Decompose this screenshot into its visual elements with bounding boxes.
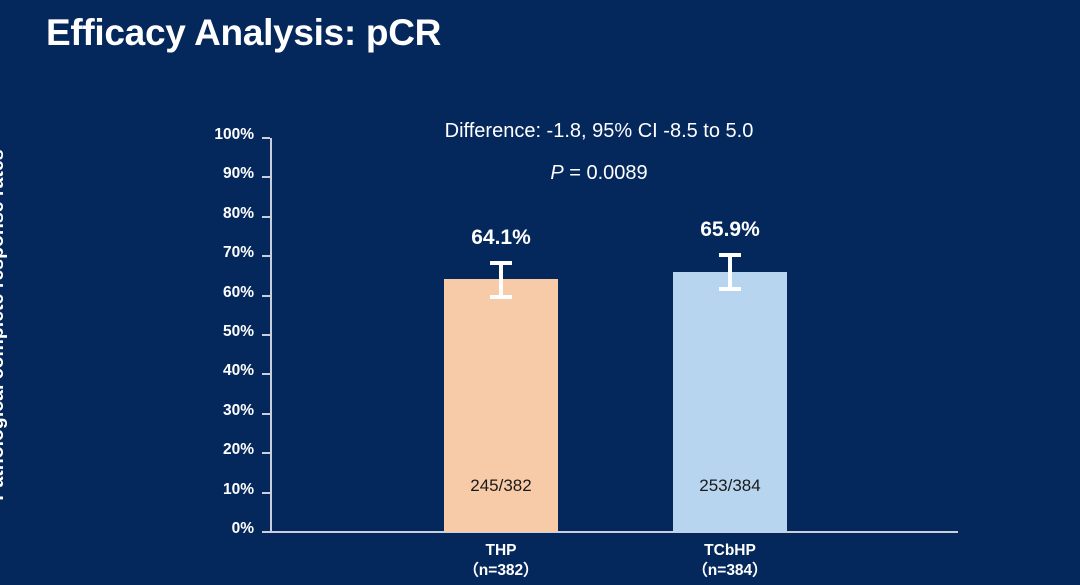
y-axis-tick-label: 90% [223,165,254,183]
y-axis-tick-mark [262,255,270,257]
pvalue-symbol: P [550,162,563,184]
y-axis-tick-mark [262,176,270,178]
error-bar-cap-upper [490,261,512,265]
error-bar-cap-lower [719,287,741,291]
y-axis-tick-label: 60% [223,284,254,302]
y-axis-tick-mark [262,452,270,454]
y-axis-tick-mark [262,373,270,375]
y-axis-tick-mark [262,137,270,139]
y-axis-tick-mark [262,413,270,415]
y-axis-title: Pathological complete response rates [0,110,12,540]
y-axis-tick-mark [262,216,270,218]
x-axis-category-name: TCbHP [704,542,756,559]
y-axis-tick: 0% [0,531,270,533]
y-axis-tick-label: 40% [223,362,254,380]
bar-value-label: 65.9% [630,218,830,242]
y-axis-tick: 90% [0,176,270,178]
bar-thp[interactable]: 245/382 [444,279,558,532]
pvalue-number: = 0.0089 [564,162,648,184]
y-axis-tick-label: 0% [232,520,254,538]
y-axis-tick-label: 10% [223,481,254,499]
x-axis-line [270,531,958,533]
y-axis-tick-label: 70% [223,244,254,262]
x-axis-category-n: （n=384） [630,561,830,581]
error-bar-cap-upper [719,253,741,257]
y-axis-tick: 50% [0,334,270,336]
y-axis-tick: 10% [0,492,270,494]
y-axis-tick-label: 80% [223,205,254,223]
x-axis-category-n: （n=382） [401,561,601,581]
error-bar-stem [499,261,503,299]
x-axis-category-name: THP [486,542,517,559]
y-axis-tick-mark [262,295,270,297]
y-axis-tick: 80% [0,216,270,218]
bar-chart: Pathological complete response rates 0%1… [0,0,1080,585]
y-axis-tick: 60% [0,295,270,297]
bar-count-label: 245/382 [444,476,558,496]
x-axis-category-thp: THP（n=382） [401,541,601,581]
error-bar-stem [728,253,732,291]
bar-tcbhp[interactable]: 253/384 [673,272,787,532]
y-axis-line [270,138,272,533]
y-axis-tick-label: 100% [214,126,254,144]
y-axis-tick: 40% [0,373,270,375]
y-axis-tick-mark [262,334,270,336]
y-axis-tick-label: 50% [223,323,254,341]
y-axis-tick-mark [262,492,270,494]
x-axis-category-tcbhp: TCbHP（n=384） [630,541,830,581]
y-axis-tick: 20% [0,452,270,454]
pvalue-annotation: P = 0.0089 [389,162,809,185]
bar-value-label: 64.1% [401,226,601,250]
difference-annotation: Difference: -1.8, 95% CI -8.5 to 5.0 [389,120,809,143]
error-bar-cap-lower [490,295,512,299]
bar-count-label: 253/384 [673,476,787,496]
y-axis-tick: 30% [0,413,270,415]
y-axis-tick-label: 20% [223,441,254,459]
y-axis-tick: 70% [0,255,270,257]
y-axis-tick: 100% [0,137,270,139]
y-axis-tick-label: 30% [223,402,254,420]
y-axis-tick-mark [262,531,270,533]
